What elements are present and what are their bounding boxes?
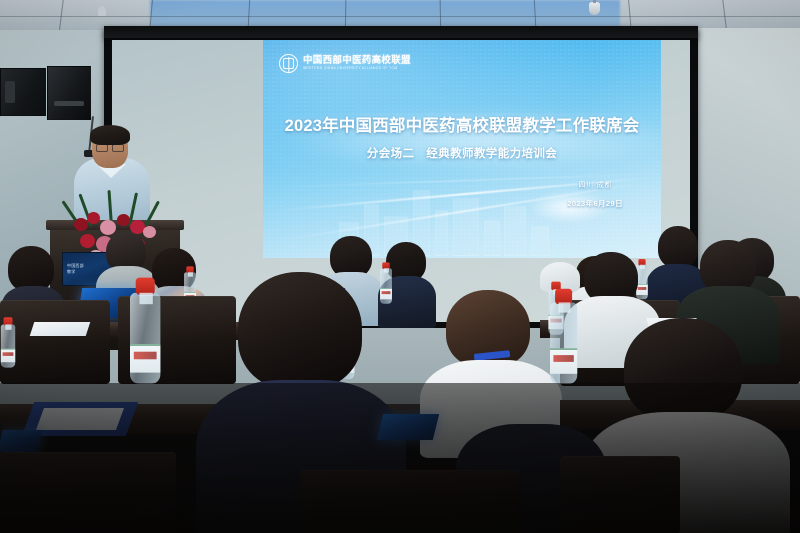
- camera-icon: [589, 2, 600, 15]
- water-bottle: [130, 293, 160, 384]
- water-bottle: [550, 302, 577, 384]
- projection-screen-top-bar: [104, 26, 698, 38]
- presenter-hair: [90, 125, 130, 145]
- conference-room-photo: 中国西部中医药高校联盟 WESTERN CHINA UNIVERSITY ALL…: [0, 0, 800, 533]
- alliance-emblem-icon: [279, 54, 298, 73]
- slide-logo-cn-name: 中国西部中医药高校联盟: [303, 56, 411, 66]
- slide-meta: 四川·成都 2023年6月29日: [567, 180, 623, 209]
- foreground-shadow: [0, 383, 800, 533]
- ceiling-mount-icon: [98, 6, 106, 16]
- slide-title: 2023年中国西部中医药高校联盟教学工作联席会: [263, 112, 661, 136]
- slide-date: 2023年6月29日: [567, 198, 623, 209]
- podium-monitor-line-1: 中国西部: [67, 263, 84, 268]
- chair: [0, 300, 110, 384]
- document-on-table: [30, 322, 91, 336]
- slide-logo-en-name: WESTERN CHINA UNIVERSITY ALLIANCE OF TCM: [303, 67, 411, 71]
- podium-monitor-line-2: 教学: [67, 269, 75, 274]
- projected-slide: 中国西部中医药高校联盟 WESTERN CHINA UNIVERSITY ALL…: [263, 40, 661, 258]
- wall-speaker: [47, 66, 91, 120]
- slide-subtitle: 分会场二 经典教师教学能力培训会: [263, 145, 661, 161]
- wall-speaker: [0, 68, 46, 116]
- slide-logo: 中国西部中医药高校联盟 WESTERN CHINA UNIVERSITY ALL…: [279, 54, 411, 73]
- glasses-icon: [96, 144, 124, 150]
- water-bottle: [1, 324, 15, 367]
- slide-location: 四川·成都: [578, 180, 611, 190]
